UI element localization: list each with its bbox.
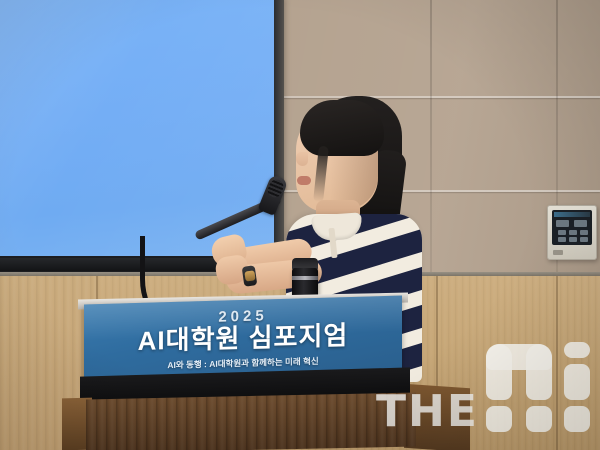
control-button-7[interactable] [569, 237, 577, 242]
watermark-text: THE [376, 390, 479, 434]
logo-block-i-dot [564, 342, 590, 358]
logo-block-i-base [564, 406, 590, 432]
podium-base [86, 393, 416, 450]
control-button-8[interactable] [580, 237, 588, 242]
control-button-1[interactable] [556, 220, 569, 227]
control-button-4[interactable] [569, 230, 577, 235]
wall-control-panel[interactable] [547, 205, 597, 260]
speaker-nose [296, 152, 308, 166]
ni-logo-icon [486, 336, 590, 432]
control-button-3[interactable] [558, 230, 566, 235]
tumbler-ring [292, 276, 318, 280]
logo-block-bottom-mid [526, 406, 552, 432]
screen-right-edge [274, 0, 284, 266]
wall-seam-vertical-1 [430, 0, 432, 272]
control-panel-indicator [553, 250, 563, 255]
logo-block-i-stem [564, 364, 590, 400]
logo-block-bottom-left [486, 406, 512, 432]
control-button-5[interactable] [580, 230, 588, 235]
projection-screen-frame [0, 0, 282, 272]
control-panel-screen[interactable] [552, 210, 592, 245]
speaker-mouth [297, 176, 311, 185]
control-button-6[interactable] [558, 237, 566, 242]
control-panel-titlebar [554, 212, 590, 217]
photo-scene: 2025 AI대학원 심포지엄 AI와 동행 : AI대학원과 함께하는 미래 … [0, 0, 600, 450]
control-button-2[interactable] [574, 220, 587, 227]
banner-title: AI대학원 심포지엄 [138, 322, 349, 355]
speaker-hair-front [300, 100, 384, 156]
watermark: THE [376, 336, 590, 440]
banner-subtitle: AI와 동행 : AI대학원과 함께하는 미래 혁신 [167, 355, 318, 371]
logo-block-n-right [526, 344, 552, 400]
